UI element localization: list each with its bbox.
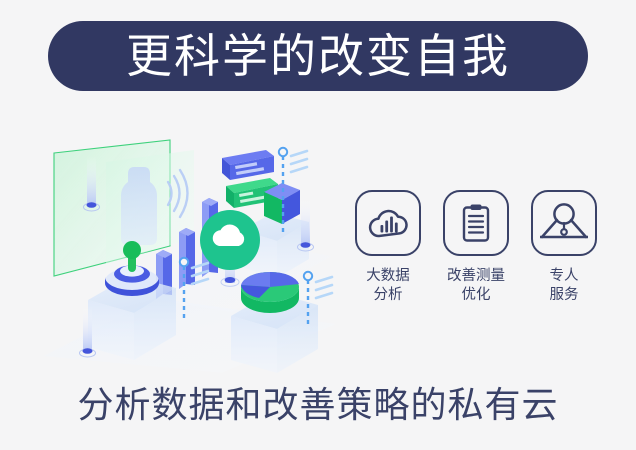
feature-label: 改善测量 优化: [447, 267, 505, 305]
agent-person-icon: [540, 202, 588, 244]
promo-banner-page: 更科学的改变自我: [0, 0, 636, 450]
hero-illustration: [36, 128, 348, 373]
feature-badge: [443, 190, 509, 256]
feature-item-improvement-measurement[interactable]: 改善测量 优化: [440, 190, 512, 305]
feature-label: 专人 服务: [550, 267, 579, 305]
feature-item-big-data-analysis[interactable]: 大数据 分析: [352, 190, 424, 305]
footer-tagline: 分析数据和改善策略的私有云: [0, 385, 636, 425]
cloud-chart-icon: [368, 206, 408, 240]
header-banner: 更科学的改变自我: [48, 21, 588, 91]
data-card-blue: [222, 150, 274, 180]
feature-item-dedicated-service[interactable]: 专人 服务: [528, 190, 600, 305]
feature-list: 大数据 分析 改善测量 优化: [352, 190, 600, 305]
pie-chart-3d: [241, 272, 299, 313]
illustration-canvas: [36, 128, 348, 373]
feature-badge: [531, 190, 597, 256]
feature-label: 大数据 分析: [366, 267, 410, 305]
page-title: 更科学的改变自我: [126, 33, 510, 79]
feature-badge: [355, 190, 421, 256]
clipboard-icon: [459, 203, 493, 243]
